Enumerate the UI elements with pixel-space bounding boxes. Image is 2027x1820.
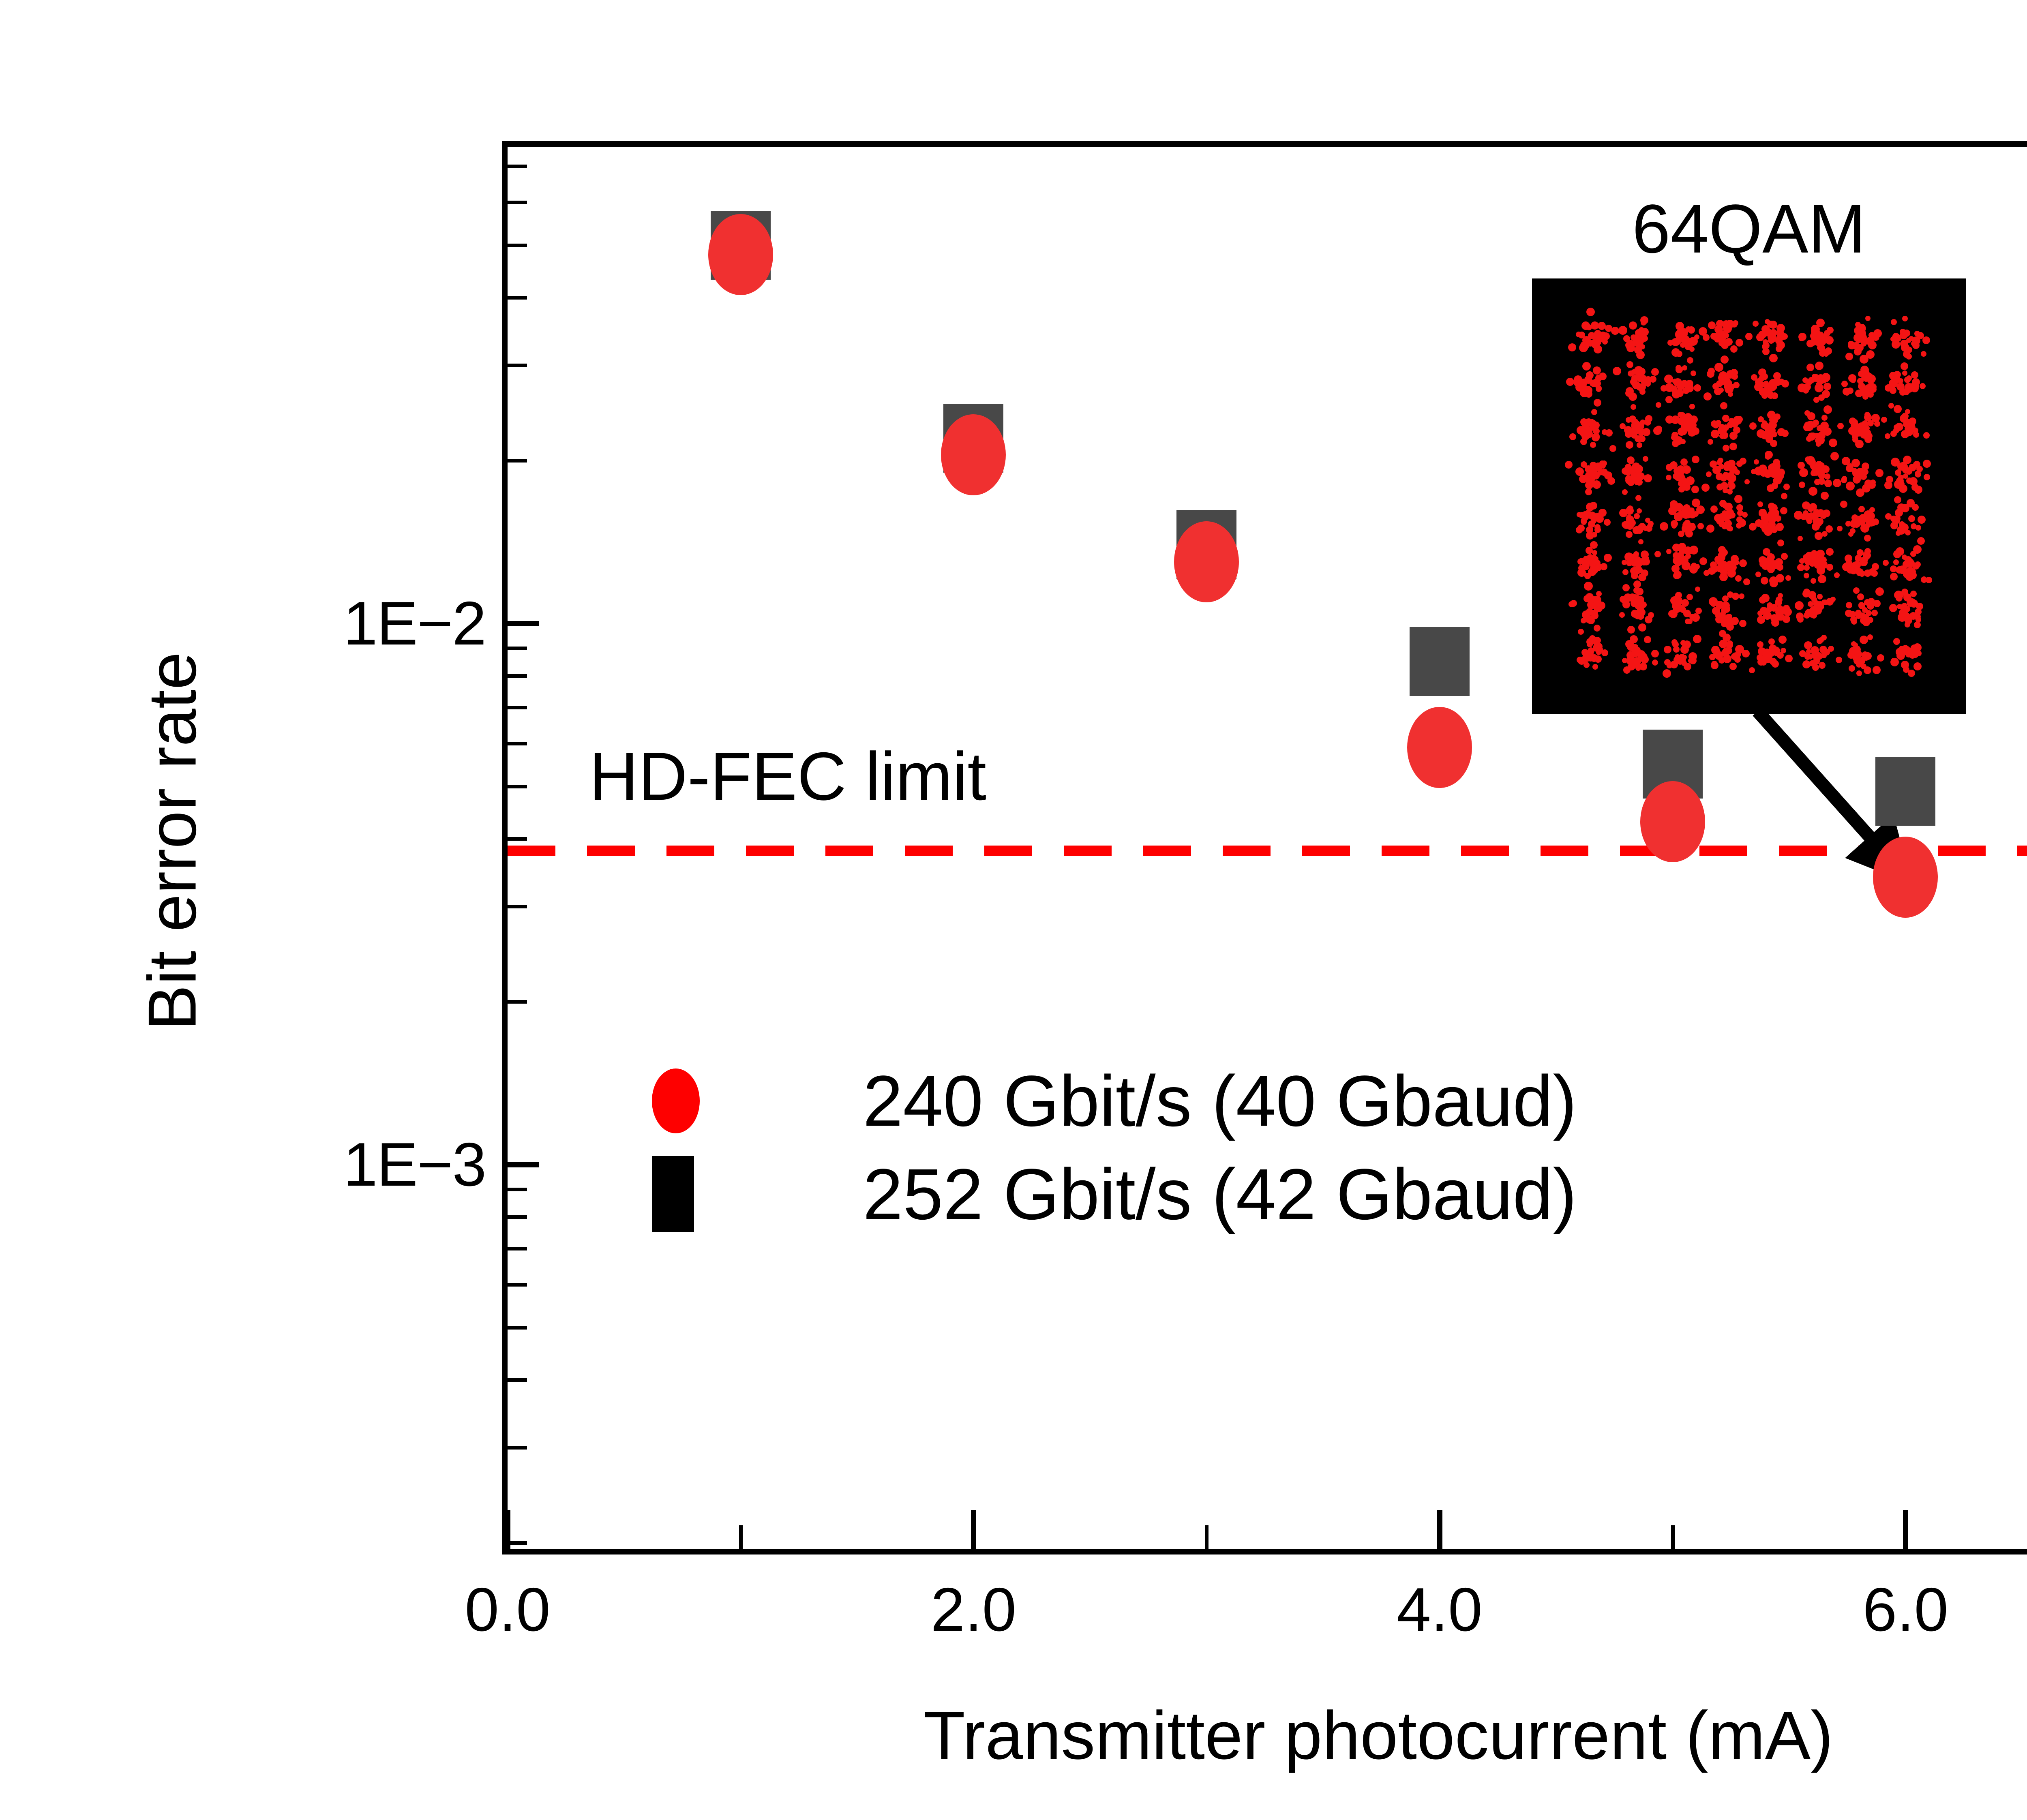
constellation-symbol — [1592, 609, 1598, 615]
constellation-symbol — [1803, 589, 1810, 595]
constellation-symbol — [1903, 666, 1909, 673]
constellation-symbol — [1729, 432, 1738, 440]
constellation-symbol — [1640, 316, 1648, 324]
constellation-symbol — [1776, 476, 1783, 482]
y-tick-minor — [508, 1188, 527, 1191]
x-tick-major — [1903, 1510, 1908, 1549]
constellation-symbol — [1811, 646, 1819, 655]
y-tick-minor — [508, 201, 527, 204]
y-tick-minor — [508, 296, 527, 300]
y-tick-minor — [508, 364, 527, 367]
constellation-symbol — [1689, 546, 1698, 555]
constellation-symbol — [1768, 337, 1774, 344]
constellation-symbol — [1673, 552, 1680, 559]
constellation-symbol — [1652, 659, 1658, 666]
y-tick-minor — [508, 785, 527, 788]
constellation-symbol — [1807, 505, 1814, 512]
constellation-symbol — [1815, 532, 1823, 540]
constellation-symbol — [1645, 415, 1652, 422]
constellation-symbol — [1645, 616, 1652, 623]
constellation-symbol — [1738, 519, 1746, 527]
constellation-symbol — [1607, 477, 1615, 485]
constellation-symbol — [1575, 467, 1584, 476]
constellation-symbol — [1896, 547, 1904, 556]
constellation-symbol — [1804, 573, 1809, 578]
constellation-symbol — [1624, 469, 1631, 475]
y-tick-minor — [508, 1541, 527, 1545]
constellation-symbol — [1739, 620, 1746, 627]
constellation-symbol — [1864, 535, 1871, 542]
constellation-symbol — [1769, 354, 1778, 362]
constellation-symbol — [1588, 647, 1594, 654]
constellation-symbol — [1914, 613, 1921, 620]
constellation-symbol — [1812, 421, 1817, 427]
constellation-symbol — [1588, 332, 1595, 339]
constellation-symbol — [1869, 507, 1875, 513]
constellation-symbol — [1873, 666, 1881, 674]
constellation-symbol — [1819, 349, 1826, 357]
constellation-symbol — [1689, 657, 1697, 664]
constellation-symbol — [1862, 651, 1868, 658]
circle-data-point — [941, 414, 1006, 495]
constellation-symbol — [1675, 604, 1681, 610]
constellation-symbol — [1744, 479, 1750, 484]
constellation-symbol — [1682, 365, 1687, 370]
constellation-symbol — [1708, 368, 1715, 375]
constellation-symbol — [1638, 651, 1645, 657]
constellation-symbol — [1830, 597, 1836, 602]
constellation-symbol — [1578, 332, 1585, 338]
y-tick-minor — [508, 1247, 527, 1250]
constellation-symbol — [1716, 473, 1723, 480]
constellation-symbol — [1655, 426, 1662, 433]
constellation-symbol — [1584, 573, 1591, 579]
constellation-symbol — [1809, 560, 1816, 567]
constellation-symbol — [1906, 338, 1911, 343]
constellation-symbol — [1596, 515, 1604, 523]
constellation-symbol — [1808, 601, 1813, 607]
x-tick-major — [971, 1510, 976, 1549]
constellation-symbol — [1883, 560, 1889, 566]
constellation-symbol — [1768, 428, 1774, 434]
constellation-symbol — [1858, 333, 1867, 342]
constellation-symbol — [1609, 445, 1616, 452]
constellation-symbol — [1622, 584, 1630, 591]
constellation-symbol — [1687, 357, 1693, 364]
constellation-symbol — [1912, 338, 1920, 346]
constellation-symbol — [1678, 412, 1683, 418]
constellation-symbol — [1852, 654, 1859, 661]
constellation-symbol — [1850, 377, 1856, 383]
constellation-symbol — [1802, 377, 1808, 383]
constellation-symbol — [1759, 509, 1767, 517]
constellation-symbol — [1762, 420, 1767, 426]
constellation-symbol — [1778, 636, 1787, 644]
constellation-symbol — [1716, 517, 1724, 525]
constellation-symbol — [1804, 422, 1812, 429]
constellation-symbol — [1916, 466, 1923, 472]
constellation-symbol — [1804, 565, 1810, 571]
constellation-symbol — [1840, 501, 1847, 508]
constellation-symbol — [1565, 461, 1573, 469]
constellation-symbol — [1826, 525, 1833, 533]
constellation-symbol — [1580, 388, 1589, 397]
constellation-symbol — [1817, 594, 1823, 600]
constellation-symbol — [1795, 601, 1804, 610]
constellation-symbol — [1665, 396, 1673, 403]
constellation-symbol — [1713, 431, 1719, 437]
constellation-symbol — [1673, 572, 1680, 579]
constellation-symbol — [1817, 379, 1823, 385]
constellation-symbol — [1635, 495, 1641, 501]
constellation-symbol — [1783, 615, 1790, 623]
constellation-symbol — [1761, 525, 1770, 533]
constellation-symbol — [1742, 512, 1748, 518]
constellation-symbol — [1635, 465, 1643, 473]
constellation-symbol — [1642, 428, 1650, 436]
constellation-symbol — [1654, 551, 1661, 557]
constellation-symbol — [1592, 433, 1600, 441]
constellation-symbol — [1926, 577, 1932, 583]
circle-data-point — [1174, 521, 1239, 602]
constellation-symbol — [1902, 612, 1911, 621]
constellation-symbol — [1699, 557, 1707, 565]
constellation-symbol — [1664, 646, 1671, 653]
constellation-symbol — [1854, 428, 1863, 437]
constellation-symbol — [1911, 371, 1918, 379]
constellation-symbol — [1633, 420, 1640, 428]
constellation-symbol — [1585, 465, 1592, 473]
constellation-symbol — [1893, 638, 1900, 645]
constellation-symbol — [1757, 501, 1763, 507]
constellation-symbol — [1678, 543, 1686, 550]
constellation-symbol — [1894, 591, 1903, 600]
constellation-symbol — [1590, 442, 1596, 448]
constellation-symbol — [1729, 443, 1737, 450]
constellation-symbol — [1683, 610, 1691, 617]
constellation-symbol — [1836, 657, 1842, 663]
circle-data-point — [1873, 837, 1938, 918]
constellation-symbol — [1619, 509, 1628, 517]
constellation-symbol — [1635, 435, 1641, 442]
constellation-symbol — [1905, 622, 1910, 627]
constellation-symbol — [1877, 654, 1884, 662]
constellation-symbol — [1815, 362, 1823, 370]
constellation-symbol — [1726, 641, 1733, 649]
constellation-symbol — [1808, 487, 1817, 496]
constellation-symbol — [1682, 655, 1687, 660]
constellation-symbol — [1820, 557, 1827, 563]
x-axis-title: Transmitter photocurrent (mA) — [924, 1696, 1833, 1775]
constellation-symbol — [1682, 511, 1690, 519]
constellation-symbol — [1812, 522, 1820, 531]
hd-fec-limit-line — [508, 846, 2027, 856]
constellation-symbol — [1678, 531, 1684, 537]
constellation-symbol — [1696, 505, 1705, 514]
constellation-symbol — [1864, 435, 1872, 443]
y-tick-minor — [508, 674, 527, 678]
constellation-symbol — [1582, 362, 1591, 370]
constellation-symbol — [1798, 462, 1805, 469]
constellation-symbol — [1636, 351, 1645, 359]
x-tick-label: 6.0 — [1863, 1579, 1948, 1640]
constellation-symbol — [1909, 646, 1918, 655]
constellation-symbol — [1723, 464, 1731, 471]
constellation-symbol — [1674, 595, 1680, 600]
constellation-symbol — [1581, 519, 1587, 525]
constellation-symbol — [1749, 667, 1755, 673]
constellation-symbol — [1913, 432, 1919, 438]
constellation-symbol — [1860, 636, 1868, 644]
constellation-symbol — [1890, 573, 1898, 580]
constellation-symbol — [1753, 321, 1759, 327]
constellation-symbol — [1656, 402, 1661, 408]
constellation-symbol — [1671, 523, 1677, 529]
circle-data-point — [1640, 781, 1705, 862]
constellation-symbol — [1826, 548, 1834, 556]
constellation-symbol — [1736, 460, 1743, 467]
constellation-symbol — [1680, 458, 1688, 466]
constellation-symbol — [1923, 460, 1931, 468]
constellation-symbol — [1734, 469, 1740, 475]
constellation-symbol — [1875, 469, 1883, 477]
constellation-symbol — [1735, 575, 1742, 582]
constellation-symbol — [1701, 484, 1710, 492]
constellation-symbol — [1860, 387, 1865, 392]
constellation-symbol — [1634, 568, 1641, 574]
constellation-symbol — [1816, 436, 1825, 445]
constellation-symbol — [1581, 426, 1589, 434]
x-tick-label: 2.0 — [931, 1579, 1016, 1640]
constellation-symbol — [1783, 484, 1790, 490]
constellation-symbol — [1849, 611, 1856, 618]
x-tick-label: 0.0 — [465, 1579, 550, 1640]
constellation-symbol — [1755, 572, 1761, 577]
constellation-symbol — [1688, 326, 1695, 334]
hd-fec-limit-label: HD-FEC limit — [589, 737, 986, 816]
constellation-symbol — [1585, 481, 1593, 489]
constellation-symbol — [1730, 345, 1738, 353]
constellation-symbol — [1634, 513, 1640, 519]
constellation-symbol — [1808, 377, 1815, 383]
constellation-symbol — [1682, 465, 1691, 474]
constellation-symbol — [1686, 476, 1695, 485]
constellation-symbol — [1780, 507, 1787, 514]
constellation-symbol — [1577, 525, 1585, 532]
constellation-symbol — [1691, 370, 1696, 376]
constellation-symbol — [1666, 475, 1671, 480]
constellation-symbol — [1626, 344, 1634, 351]
constellation-symbol — [1729, 663, 1737, 670]
constellation-symbol — [1875, 587, 1884, 596]
constellation-symbol — [1821, 492, 1829, 500]
constellation-symbol — [1586, 531, 1594, 540]
x-tick-minor — [1671, 1525, 1675, 1549]
constellation-symbol — [1781, 380, 1789, 388]
constellation-symbol — [1591, 341, 1598, 348]
constellation-symbol — [1852, 645, 1861, 654]
constellation-symbol — [1785, 655, 1793, 662]
constellation-symbol — [1813, 397, 1819, 403]
constellation-symbol — [1857, 593, 1864, 600]
constellation-symbol — [1687, 619, 1693, 624]
constellation-symbol — [1868, 341, 1877, 349]
constellation-symbol — [1664, 375, 1673, 383]
constellation-symbol — [1690, 523, 1695, 529]
constellation-symbol — [1911, 384, 1919, 392]
constellation-symbol — [1921, 351, 1926, 357]
constellation-symbol — [1613, 367, 1621, 375]
constellation-symbol — [1710, 460, 1717, 468]
constellation-symbol — [1868, 332, 1875, 338]
constellation-symbol — [1916, 525, 1921, 531]
constellation-symbol — [1739, 593, 1744, 599]
constellation-symbol — [1743, 578, 1750, 585]
constellation-symbol — [1922, 336, 1930, 344]
constellation-symbol — [1902, 645, 1909, 651]
constellation-symbol — [1718, 657, 1725, 664]
constellation-symbol — [1761, 392, 1768, 399]
constellation-symbol — [1731, 321, 1738, 328]
constellation-symbol — [1680, 640, 1686, 646]
constellation-symbol — [1771, 392, 1778, 399]
constellation-symbol — [1731, 373, 1738, 380]
constellation-symbol — [1825, 336, 1834, 345]
constellation-symbol — [1866, 350, 1875, 359]
y-tick-minor — [508, 647, 527, 650]
constellation-symbol — [1908, 515, 1915, 522]
constellation-symbol — [1644, 636, 1651, 643]
constellation-symbol — [1822, 390, 1830, 398]
constellation-symbol — [1902, 370, 1907, 376]
constellation-symbol — [1913, 662, 1922, 670]
constellation-symbol — [1605, 429, 1613, 437]
constellation-symbol — [1847, 388, 1853, 394]
constellation-symbol — [1589, 476, 1595, 482]
constellation-symbol — [1823, 383, 1831, 390]
constellation-symbol — [1849, 665, 1855, 672]
constellation-symbol — [1842, 476, 1847, 481]
constellation-symbol — [1891, 658, 1897, 664]
constellation-symbol — [1650, 376, 1656, 383]
constellation-symbol — [1666, 549, 1671, 554]
constellation-symbol — [1686, 416, 1695, 424]
constellation-symbol — [1901, 362, 1908, 370]
constellation-symbol — [1804, 410, 1810, 416]
y-tick-major — [508, 621, 539, 626]
legend-label-1: 252 Gbit/s (42 Gbaud) — [863, 1152, 1577, 1235]
constellation-symbol — [1818, 637, 1824, 643]
constellation-symbol — [1898, 475, 1904, 480]
constellation-symbol — [1799, 482, 1805, 488]
constellation-symbol — [1852, 437, 1858, 443]
constellation-symbol — [1631, 404, 1636, 410]
constellation-symbol — [1726, 561, 1734, 568]
constellation-symbol — [1867, 375, 1876, 383]
constellation-symbol — [1767, 411, 1776, 419]
x-tick-label: 4.0 — [1397, 1579, 1482, 1640]
constellation-symbol — [1684, 663, 1691, 670]
constellation-symbol — [1830, 452, 1839, 460]
constellation-symbol — [1723, 445, 1729, 452]
constellation-symbol — [1763, 328, 1772, 336]
constellation-symbol — [1856, 670, 1862, 676]
constellation-symbol — [1906, 353, 1912, 360]
y-tick-minor — [508, 1378, 527, 1382]
constellation-symbol — [1691, 486, 1699, 493]
constellation-symbol — [1864, 666, 1871, 674]
constellation-symbol — [1824, 473, 1830, 480]
constellation-symbol — [1586, 547, 1593, 554]
constellation-symbol — [1676, 351, 1682, 357]
figure-canvas: Bit error rate Transmitter photocurrent … — [0, 0, 2027, 1820]
constellation-symbol — [1628, 663, 1635, 670]
constellation-symbol — [1846, 482, 1855, 490]
y-tick-minor — [508, 1446, 527, 1450]
constellation-symbol — [1837, 526, 1843, 531]
constellation-symbol — [1833, 479, 1841, 487]
constellation-symbol — [1681, 335, 1690, 344]
constellation-symbol — [1851, 514, 1858, 521]
constellation-symbol — [1910, 551, 1916, 557]
constellation-symbol — [1856, 613, 1862, 619]
constellation-symbol — [1818, 478, 1825, 485]
circle-marker-icon — [652, 1068, 700, 1133]
constellation-symbol — [1708, 439, 1713, 445]
constellation-symbol — [1736, 339, 1743, 347]
constellation-symbol — [1811, 578, 1816, 584]
constellation-symbol — [1675, 654, 1680, 660]
constellation-symbol — [1850, 528, 1856, 534]
constellation-symbol — [1829, 439, 1837, 447]
constellation-symbol — [1858, 474, 1864, 480]
constellation-symbol — [1660, 522, 1668, 531]
constellation-inset — [1532, 278, 1966, 714]
constellation-symbol — [1785, 575, 1791, 581]
constellation-symbol — [1626, 522, 1634, 530]
constellation-symbol — [1566, 378, 1574, 386]
constellation-symbol — [1893, 333, 1899, 339]
constellation-symbol — [1645, 381, 1651, 387]
constellation-symbol — [1856, 488, 1864, 497]
constellation-symbol — [1820, 473, 1825, 478]
constellation-symbol — [1596, 650, 1601, 655]
constellation-symbol — [1863, 551, 1871, 559]
constellation-symbol — [1893, 559, 1899, 565]
constellation-symbol — [1765, 451, 1773, 459]
constellation-symbol — [1884, 481, 1892, 489]
constellation-symbol — [1706, 471, 1712, 477]
constellation-symbol — [1592, 480, 1601, 489]
constellation-symbol — [1695, 587, 1700, 592]
constellation-symbol — [1671, 432, 1678, 439]
constellation-symbol — [1894, 515, 1901, 522]
constellation-symbol — [1681, 599, 1689, 607]
constellation-symbol — [1885, 384, 1892, 392]
constellation-symbol — [1714, 388, 1722, 395]
constellation-symbol — [1622, 569, 1628, 575]
constellation-symbol — [1695, 608, 1702, 614]
constellation-symbol — [1853, 587, 1860, 594]
constellation-symbol — [1920, 383, 1926, 389]
y-tick-minor — [508, 1283, 527, 1287]
constellation-symbol — [1729, 512, 1736, 518]
constellation-symbol — [1584, 582, 1593, 591]
constellation-symbol — [1881, 417, 1887, 423]
constellation-symbol — [1767, 605, 1774, 612]
constellation-symbol — [1725, 339, 1730, 344]
constellation-symbol — [1859, 570, 1865, 577]
